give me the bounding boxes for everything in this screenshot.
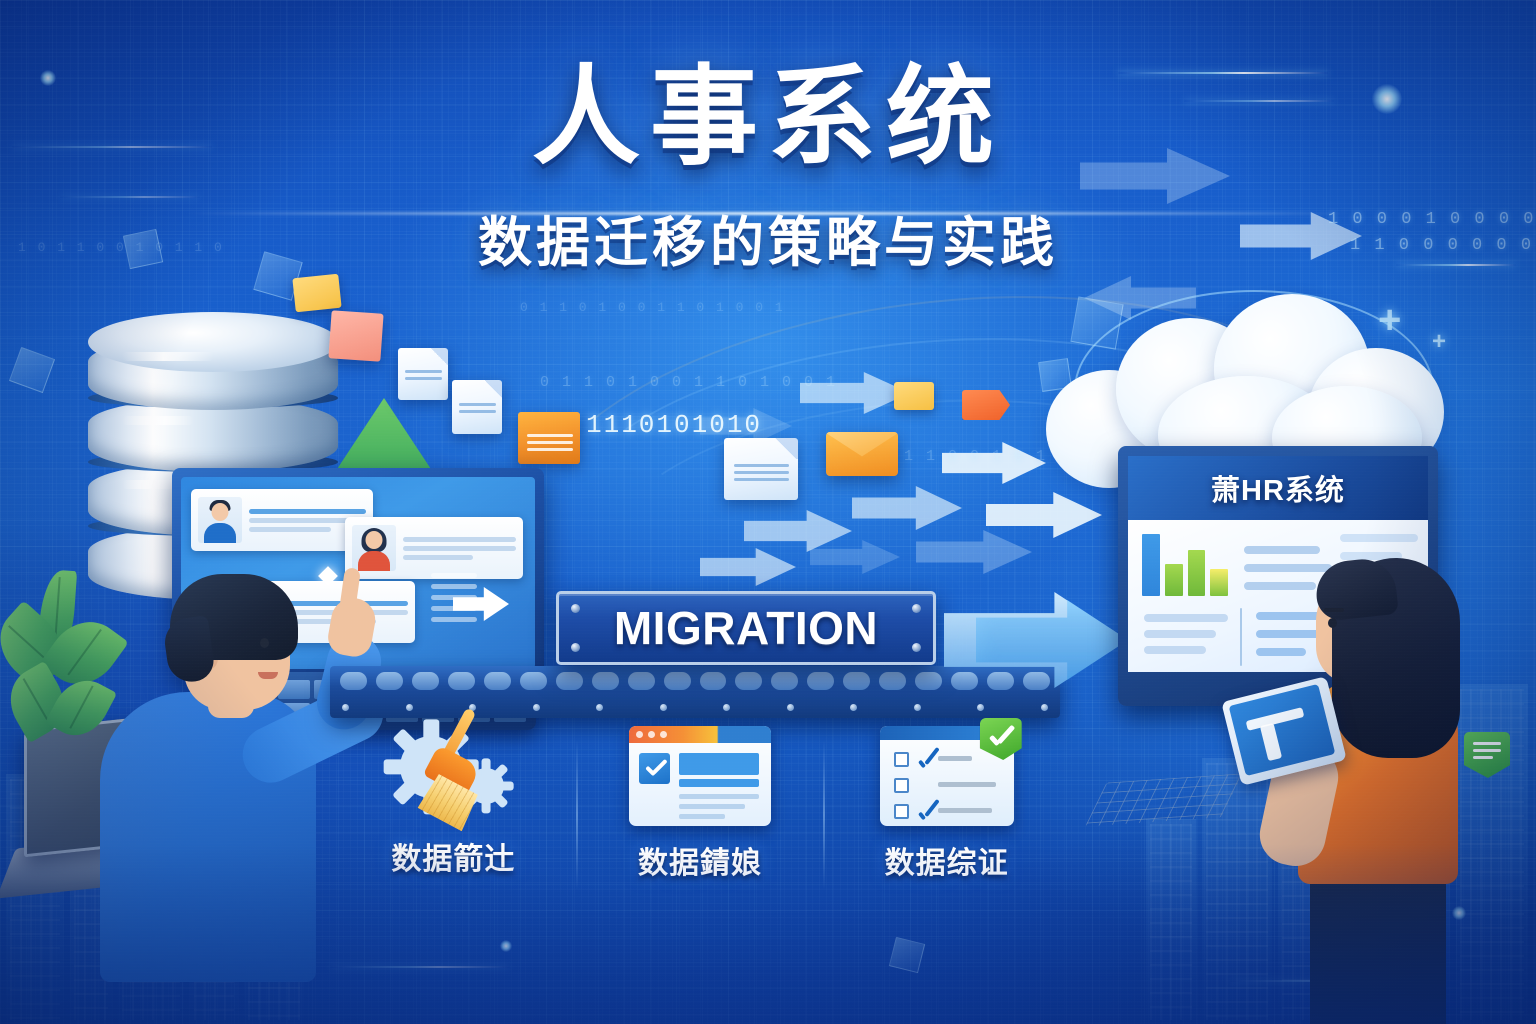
floating-document-icon (328, 310, 383, 362)
floating-document-icon (452, 380, 502, 434)
checklist-approved-icon (880, 726, 1014, 826)
migration-label: MIGRATION (614, 601, 878, 655)
conveyor-studs (342, 704, 1048, 711)
checkmark-blue (924, 799, 939, 817)
checkmark-blue (924, 747, 939, 765)
dashboard-bar-chart (1142, 534, 1228, 596)
binary-text: 0 1 1 0 1 0 0 1 1 0 1 0 0 1 (520, 300, 785, 315)
floating-document-icon (398, 348, 448, 400)
check-tile (639, 753, 670, 784)
woman-brow (1324, 608, 1344, 612)
content-block (679, 779, 759, 787)
page-subtitle: 数据迁移的策略与实践 (0, 198, 1536, 277)
content-line (679, 794, 759, 799)
hr-system-title-bar: 萧HR系统 (1128, 456, 1428, 520)
content-block (679, 753, 759, 775)
floating-tag-icon (894, 382, 934, 410)
content-line (679, 804, 745, 809)
binary-text: 1110101010 (586, 410, 762, 440)
man-hair-side (162, 615, 216, 685)
browser-check-icon (629, 726, 771, 826)
dashboard-text-line (1340, 534, 1418, 542)
woman-eye (1328, 618, 1337, 628)
page-title: 人事系统 (0, 62, 1536, 172)
banner-canvas: + + + 1110101010 1 0 0 0 1 0 0 0 0 0 1 0… (0, 0, 1536, 1024)
hr-system-title: 萧HR系统 (1211, 467, 1345, 509)
floating-document-icon (724, 438, 798, 500)
dashboard-text-line (1244, 546, 1320, 554)
man-eye (260, 638, 269, 648)
checklist-line (938, 756, 972, 761)
dashboard-text-line (1144, 646, 1206, 654)
binary-text: 0 1 1 0 1 0 0 1 1 0 1 0 0 1 (540, 374, 837, 391)
floor-glow (0, 844, 1536, 1024)
conveyor-rollers (340, 672, 1050, 690)
browser-title-bar (629, 726, 771, 743)
migration-conveyor (330, 666, 1060, 718)
browser-window (629, 726, 771, 826)
dashboard-text-line (1144, 614, 1228, 622)
content-line (679, 814, 725, 819)
email-icon (826, 432, 898, 476)
migration-sign: MIGRATION (556, 591, 936, 665)
window-dot-yellow (660, 731, 667, 738)
floating-document-icon (518, 412, 580, 464)
checkbox[interactable] (894, 804, 909, 819)
checkbox[interactable] (894, 752, 909, 767)
monitor-sidebar-list (431, 573, 477, 622)
dashboard-text-line (1144, 630, 1216, 638)
record-lines (403, 537, 516, 560)
dashboard-divider (1240, 608, 1242, 666)
gear-broom-icon (398, 726, 508, 822)
checklist-line (938, 782, 996, 787)
avatar (198, 497, 242, 543)
title-divider-glow (184, 212, 1351, 215)
floating-tag-icon (292, 274, 341, 313)
window-dot-red (636, 731, 643, 738)
checkbox[interactable] (894, 778, 909, 793)
window-dot-orange (648, 731, 655, 738)
title-block: 人事系统 数据迁移的策略与实践 (0, 62, 1536, 277)
checklist-line (938, 808, 992, 813)
